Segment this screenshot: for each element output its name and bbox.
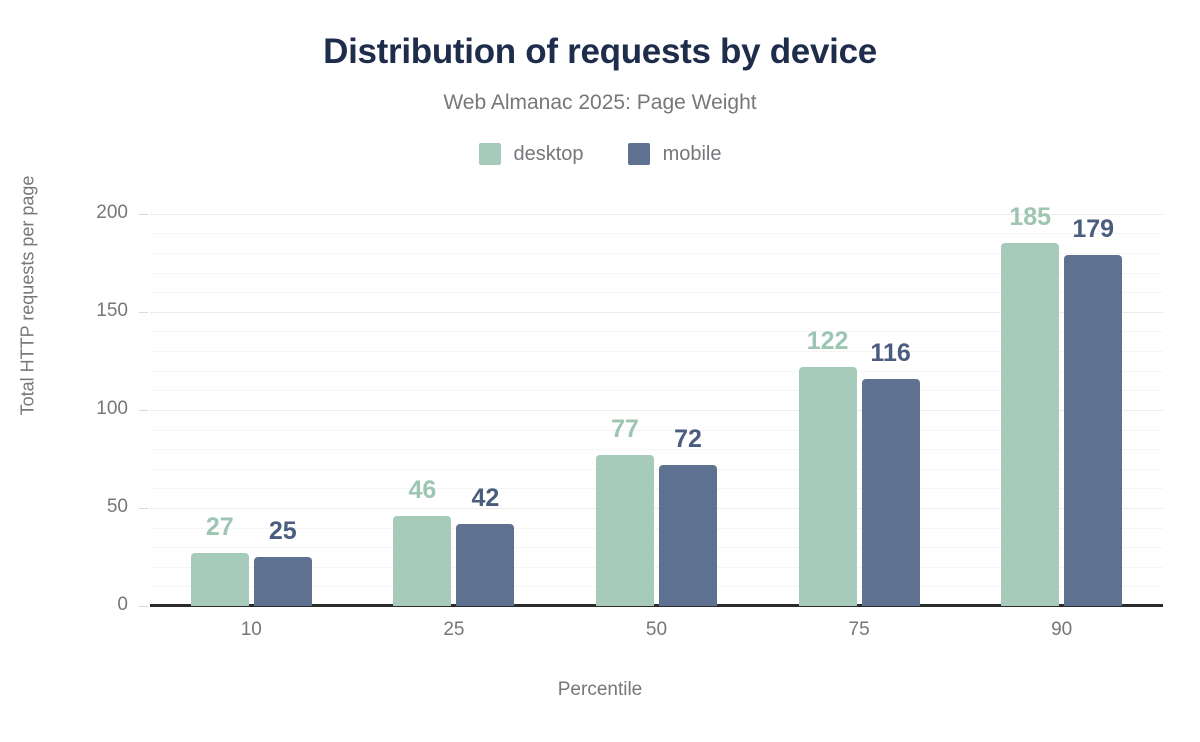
x-tick-label-75: 75 (799, 619, 919, 641)
legend-swatch-mobile (628, 143, 650, 165)
bar-mobile-90[interactable] (1064, 255, 1122, 606)
bar-value-label-mobile-50: 72 (633, 425, 743, 454)
legend-label-desktop: desktop (514, 144, 584, 164)
bar-desktop-10[interactable] (191, 553, 249, 606)
y-tick-label: 100 (0, 398, 128, 420)
y-tick-mark (139, 606, 148, 607)
bar-mobile-25[interactable] (456, 524, 514, 606)
bar-chart: Distribution of requests by device Web A… (0, 0, 1200, 742)
bar-value-label-mobile-25: 42 (430, 484, 540, 513)
bar-value-label-mobile-10: 25 (228, 517, 338, 546)
legend-item-mobile[interactable]: mobile (628, 143, 722, 165)
y-tick-mark (139, 508, 148, 509)
y-tick-mark (139, 410, 148, 411)
y-axis-title: Total HTTP requests per page (18, 16, 39, 576)
bar-desktop-90[interactable] (1001, 243, 1059, 606)
legend-label-mobile: mobile (663, 144, 722, 164)
chart-title: Distribution of requests by device (0, 32, 1200, 72)
x-tick-label-50: 50 (597, 619, 717, 641)
bar-mobile-10[interactable] (254, 557, 312, 606)
x-tick-label-25: 25 (394, 619, 514, 641)
bar-value-label-mobile-75: 116 (836, 339, 946, 368)
bar-desktop-50[interactable] (596, 455, 654, 606)
y-tick-label: 0 (0, 594, 128, 616)
bar-mobile-75[interactable] (862, 379, 920, 606)
y-tick-label: 150 (0, 300, 128, 322)
x-tick-label-90: 90 (1002, 619, 1122, 641)
legend-item-desktop[interactable]: desktop (479, 143, 584, 165)
gridline (150, 233, 1163, 234)
y-tick-label: 200 (0, 202, 128, 224)
x-axis-title: Percentile (0, 679, 1200, 701)
x-tick-label-10: 10 (191, 619, 311, 641)
legend-swatch-desktop (479, 143, 501, 165)
bar-mobile-50[interactable] (659, 465, 717, 606)
chart-subtitle: Web Almanac 2025: Page Weight (0, 91, 1200, 115)
bar-value-label-mobile-90: 179 (1038, 215, 1148, 244)
y-tick-mark (139, 214, 148, 215)
y-tick-mark (139, 312, 148, 313)
chart-legend: desktopmobile (0, 143, 1200, 165)
y-tick-label: 50 (0, 496, 128, 518)
bar-desktop-25[interactable] (393, 516, 451, 606)
bar-desktop-75[interactable] (799, 367, 857, 606)
